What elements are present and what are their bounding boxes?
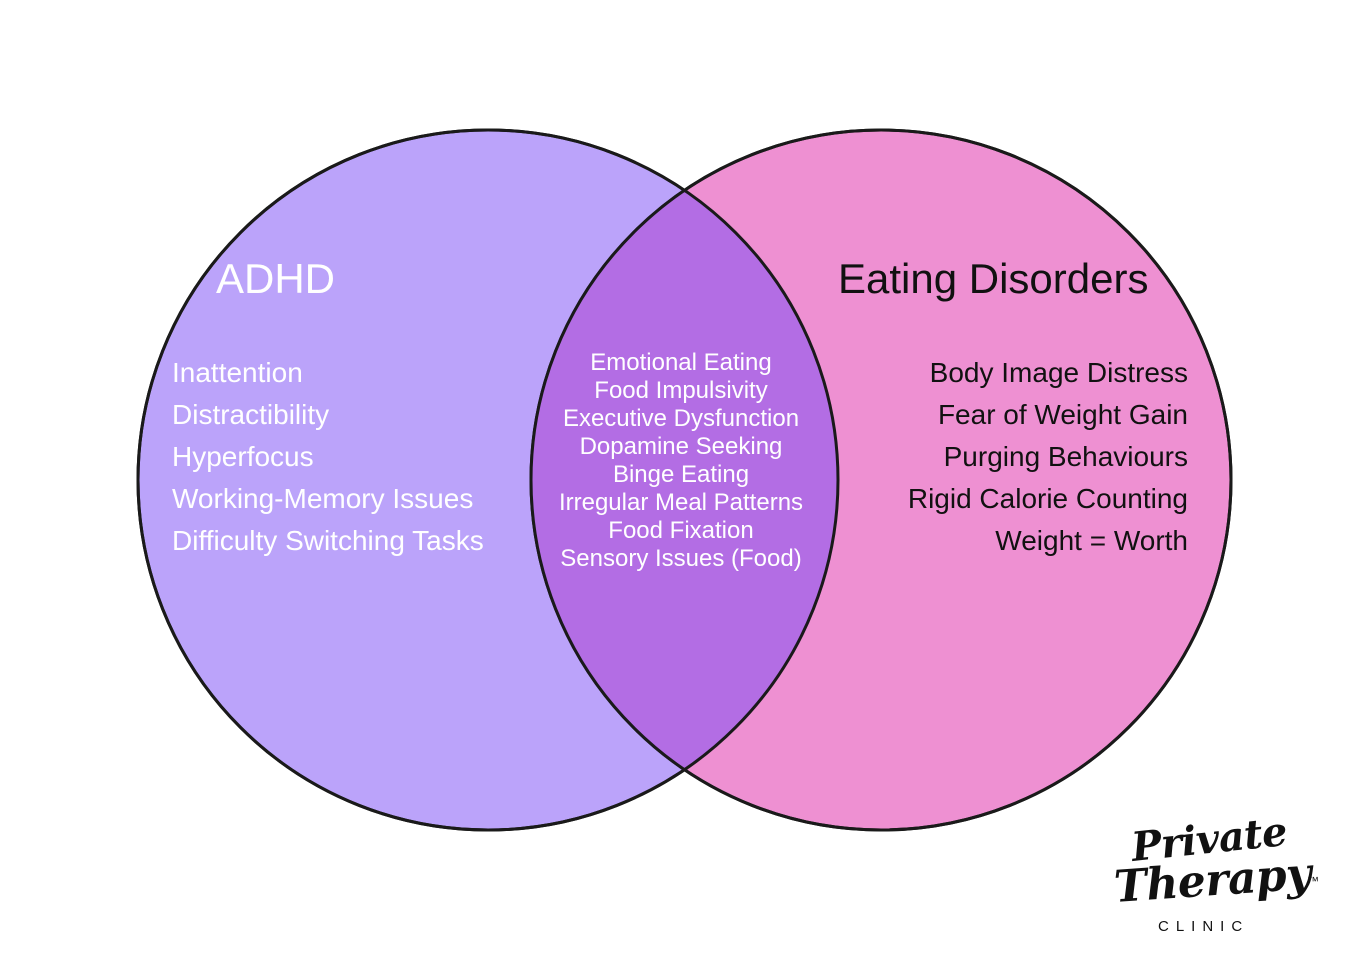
list-item: Irregular Meal Patterns [531,489,831,517]
circle-left-item-list: Inattention Distractibility Hyperfocus W… [172,352,484,562]
list-item: Working-Memory Issues [172,478,484,520]
list-item: Food Fixation [531,517,831,545]
venn-diagram: ADHD Eating Disorders Inattention Distra… [0,0,1360,958]
list-item: Rigid Calorie Counting [908,478,1188,520]
private-therapy-clinic-logo: Private Therapy CLINIC ™ [1098,818,1338,946]
circle-right-item-list: Body Image Distress Fear of Weight Gain … [908,352,1188,562]
list-item: Food Impulsivity [531,377,831,405]
list-item: Binge Eating [531,461,831,489]
list-item: Emotional Eating [531,349,831,377]
list-item: Fear of Weight Gain [908,394,1188,436]
list-item: Purging Behaviours [908,436,1188,478]
list-item: Dopamine Seeking [531,433,831,461]
list-item: Difficulty Switching Tasks [172,520,484,562]
list-item: Distractibility [172,394,484,436]
list-item: Inattention [172,352,484,394]
list-item: Hyperfocus [172,436,484,478]
trademark-icon: ™ [1307,874,1319,888]
circle-right-title: Eating Disorders [838,258,1148,300]
list-item: Executive Dysfunction [531,405,831,433]
circle-left-title: ADHD [216,258,335,300]
list-item: Body Image Distress [908,352,1188,394]
list-item: Sensory Issues (Food) [531,545,831,573]
list-item: Weight = Worth [908,520,1188,562]
logo-word-clinic: CLINIC [1158,918,1249,935]
overlap-item-list: Emotional Eating Food Impulsivity Execut… [531,349,831,573]
